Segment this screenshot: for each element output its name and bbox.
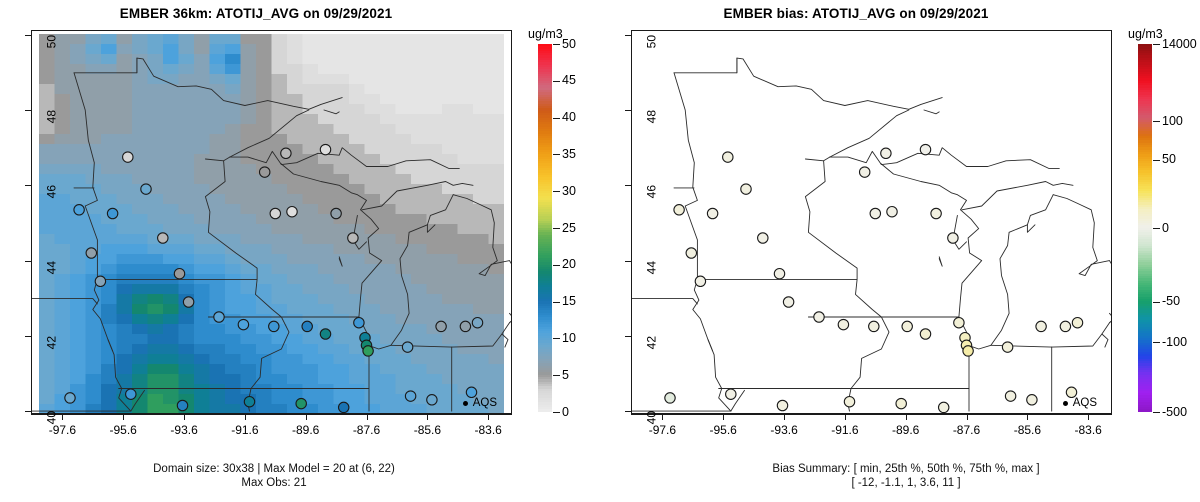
aqs-dot-icon <box>1063 401 1068 406</box>
panel-model: EMBER 36km: ATOTIJ_AVG on 09/29/2021 AQS… <box>0 0 600 502</box>
model-y-axis: 404244464850 <box>31 30 32 414</box>
panel-model-plot-frame: AQS <box>31 30 512 414</box>
panel-bias-title: EMBER bias: ATOTIJ_AVG on 09/29/2021 <box>600 6 1112 21</box>
bias-caption-line1: Bias Summary: [ min, 25th %, 50th %, 75t… <box>632 463 1180 477</box>
figure-root: EMBER 36km: ATOTIJ_AVG on 09/29/2021 AQS… <box>0 0 1200 502</box>
bias-caption-line2: [ -12, -1.1, 1, 3.6, 11 ] <box>632 477 1180 491</box>
model-caption-line1: Domain size: 30x38 | Max Model = 20 at (… <box>0 463 548 477</box>
model-colorbar-unit: ug/m3 <box>528 27 563 41</box>
panel-model-title: EMBER 36km: ATOTIJ_AVG on 09/29/2021 <box>0 6 512 21</box>
bias-colorbar <box>1138 44 1152 412</box>
aqs-dot-icon <box>463 401 468 406</box>
bias-colorbar-unit: ug/m3 <box>1128 27 1163 41</box>
model-caption-line2: Max Obs: 21 <box>0 477 548 491</box>
model-station-markers <box>32 31 511 413</box>
panel-bias-plot-frame: AQS <box>631 30 1112 414</box>
model-x-axis: -97.6-95.6-93.6-91.6-89.6-87.6-85.6-83.6 <box>31 414 512 415</box>
bias-aqs-label: AQS <box>1073 397 1097 409</box>
bias-y-axis: 404244464850 <box>631 30 632 414</box>
model-aqs-label: AQS <box>473 397 497 409</box>
panel-bias: EMBER bias: ATOTIJ_AVG on 09/29/2021 AQS… <box>600 0 1200 502</box>
bias-aqs-legend: AQS <box>1063 397 1097 409</box>
bias-x-axis: -97.6-95.6-93.6-91.6-89.6-87.6-85.6-83.6 <box>631 414 1112 415</box>
model-aqs-legend: AQS <box>463 397 497 409</box>
bias-station-markers <box>632 31 1111 413</box>
model-colorbar <box>538 44 552 412</box>
